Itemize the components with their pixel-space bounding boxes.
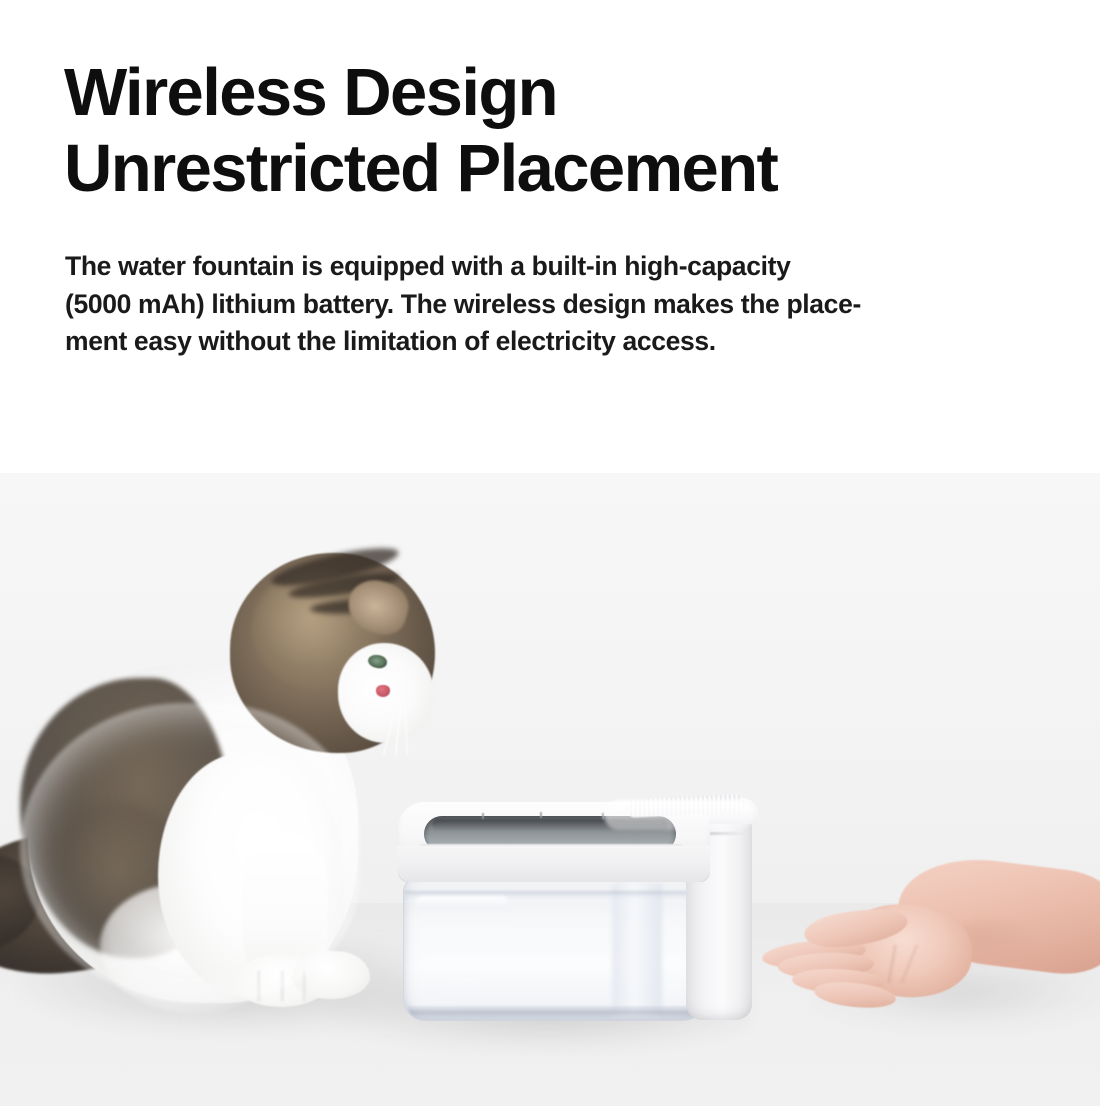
human-hand xyxy=(748,853,1100,1043)
cat-whiskers xyxy=(352,699,448,755)
page-title: Wireless Design Unrestricted Placement xyxy=(64,55,777,207)
text-section: Wireless Design Unrestricted Placement T… xyxy=(0,0,1100,473)
description-paragraph: The water fountain is equipped with a bu… xyxy=(65,248,1055,361)
basin-notch-1 xyxy=(482,813,484,819)
lid-sheen xyxy=(604,800,754,830)
description-line-2: (5000 mAh) lithium battery. The wireless… xyxy=(65,286,1055,324)
palm-creases xyxy=(852,945,948,983)
reservoir-inner-column xyxy=(612,884,662,1016)
housing-front-band xyxy=(398,846,710,882)
product-lifestyle-photo xyxy=(0,473,1100,1106)
product-feature-page: Wireless Design Unrestricted Placement T… xyxy=(0,0,1100,1106)
description-line-3: ment easy without the limitation of elec… xyxy=(65,323,1055,361)
headline-line-2: Unrestricted Placement xyxy=(64,131,777,207)
headline-line-1: Wireless Design xyxy=(64,55,777,131)
cat-nose xyxy=(376,685,390,697)
description-line-1: The water fountain is equipped with a bu… xyxy=(65,248,1055,286)
reservoir-base-rim xyxy=(408,1006,700,1018)
basin-notch-2 xyxy=(540,812,542,818)
water-fountain-product xyxy=(390,788,760,1033)
reservoir-highlight xyxy=(416,896,508,908)
